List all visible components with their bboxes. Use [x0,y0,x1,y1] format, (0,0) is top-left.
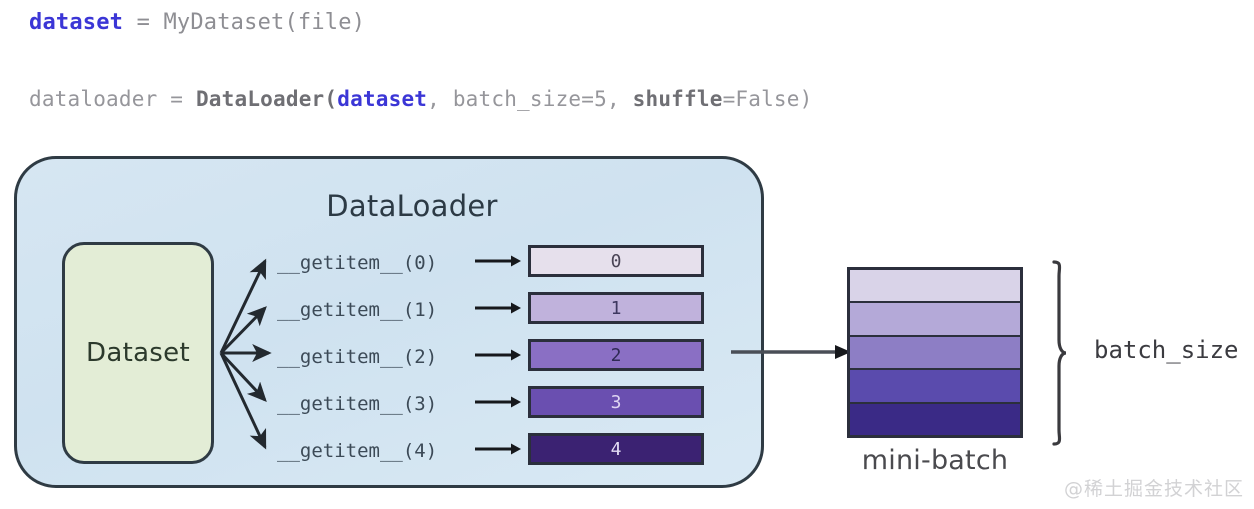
code-line-dataset: dataset = MyDataset(file) [29,10,365,35]
getitem-label-2: __getitem__(2) [277,346,437,368]
sample-box-3: 3 [528,386,704,418]
code-token-shuffle-kw: shuffle [633,87,723,111]
sample-box-4: 4 [528,433,704,465]
code-line-dataloader: dataloader = DataLoader(dataset, batch_s… [29,87,812,111]
minibatch-label: mini-batch [847,445,1023,476]
minibatch-band-3 [850,370,1020,403]
minibatch-stack [847,267,1023,438]
row-arrow-2 [475,348,521,362]
row-arrow-3 [475,395,521,409]
dataloader-title: DataLoader [17,189,767,223]
row-arrow-1 [475,301,521,315]
code-token-dataset-var: dataset [29,10,123,35]
getitem-label-3: __getitem__(3) [277,393,437,415]
minibatch-band-0 [850,270,1020,303]
code-token-dataloader-lhs: dataloader = [29,87,196,111]
code-token-dataloader-call: DataLoader( [196,87,337,111]
sample-box-1: 1 [528,292,704,324]
code-token-dataset-arg: dataset [337,87,427,111]
minibatch-band-4 [850,404,1020,435]
watermark: @稀土掘金技术社区 [1064,474,1244,501]
code-token-batchsize: , batch_size=5, [427,87,633,111]
code-token-dataset-rest: = MyDataset(file) [123,10,365,35]
sample-box-0: 0 [528,245,704,277]
sample-box-2: 2 [528,339,704,371]
batch-size-brace [1042,258,1084,448]
row-arrow-4 [475,442,521,456]
collate-arrow [731,344,851,360]
getitem-label-4: __getitem__(4) [277,440,437,462]
getitem-label-0: __getitem__(0) [277,252,437,274]
minibatch-band-1 [850,303,1020,336]
dataset-fanout-arrows [207,234,287,484]
minibatch-band-2 [850,337,1020,370]
dataset-box: Dataset [62,242,214,464]
dataloader-container: DataLoader Dataset __getitem__(0) __geti… [14,156,764,488]
code-token-shuffle-value: =False) [723,87,813,111]
dataset-label: Dataset [86,338,190,368]
row-arrow-0 [475,254,521,268]
batch-size-label: batch_size [1094,336,1239,364]
getitem-label-1: __getitem__(1) [277,299,437,321]
